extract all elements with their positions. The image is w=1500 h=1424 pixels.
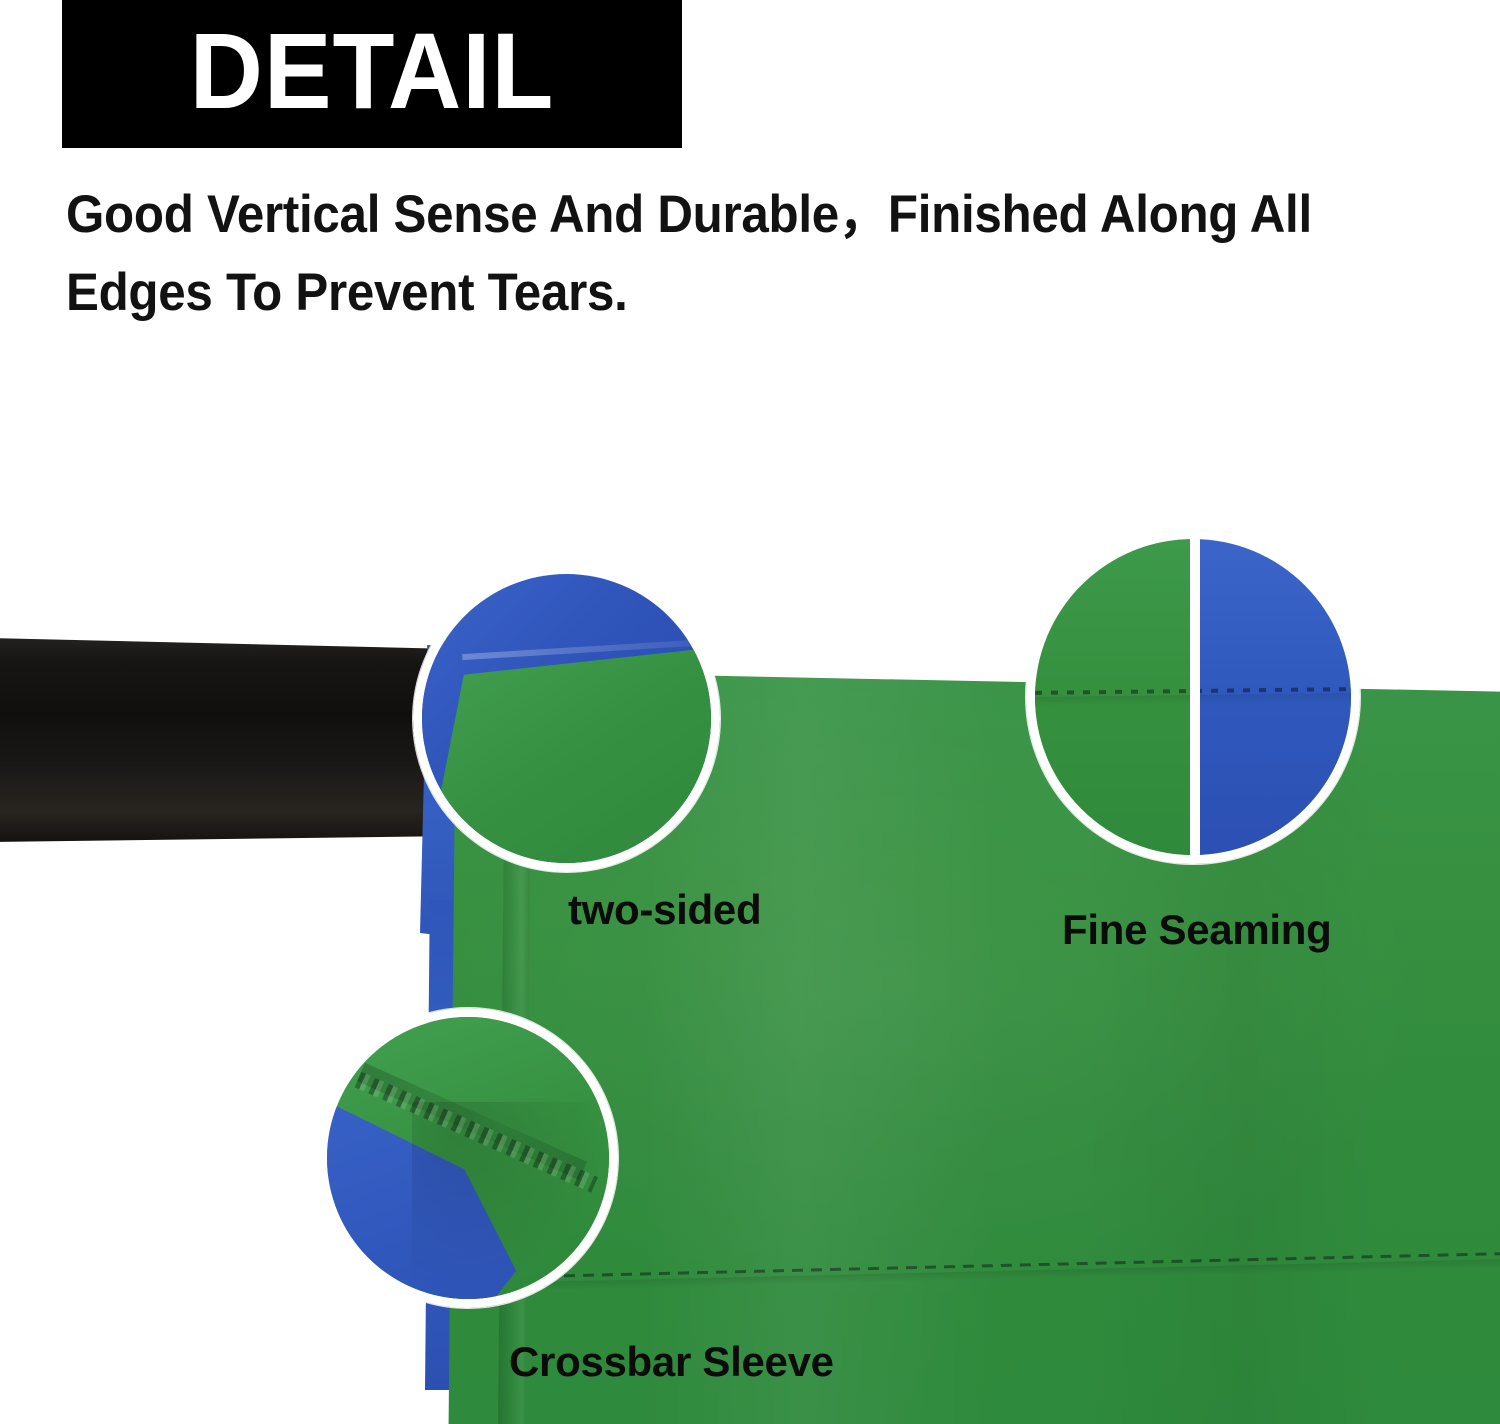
fine-seaming-divider — [1190, 530, 1200, 864]
callout-circle-fine-seaming — [1026, 530, 1360, 864]
detail-banner: DETAIL — [62, 0, 682, 148]
caption-two-sided: two-sided — [568, 886, 761, 934]
callout-circle-two-sided — [413, 565, 720, 872]
product-detail-page: DETAIL Good Vertical Sense And Durable，F… — [0, 0, 1500, 1424]
subtitle-line-1: Good Vertical Sense And Durable，Finished… — [66, 176, 1331, 254]
callout-circle-crossbar-sleeve — [318, 1008, 618, 1308]
caption-fine-seaming: Fine Seaming — [1062, 906, 1331, 954]
caption-crossbar-sleeve: Crossbar Sleeve — [509, 1338, 834, 1386]
crossbar-rod — [0, 638, 465, 842]
subtitle-line-2: Edges To Prevent Tears. — [66, 254, 1331, 332]
banner-title: DETAIL — [190, 17, 555, 131]
subtitle-block: Good Vertical Sense And Durable，Finished… — [66, 176, 1331, 333]
